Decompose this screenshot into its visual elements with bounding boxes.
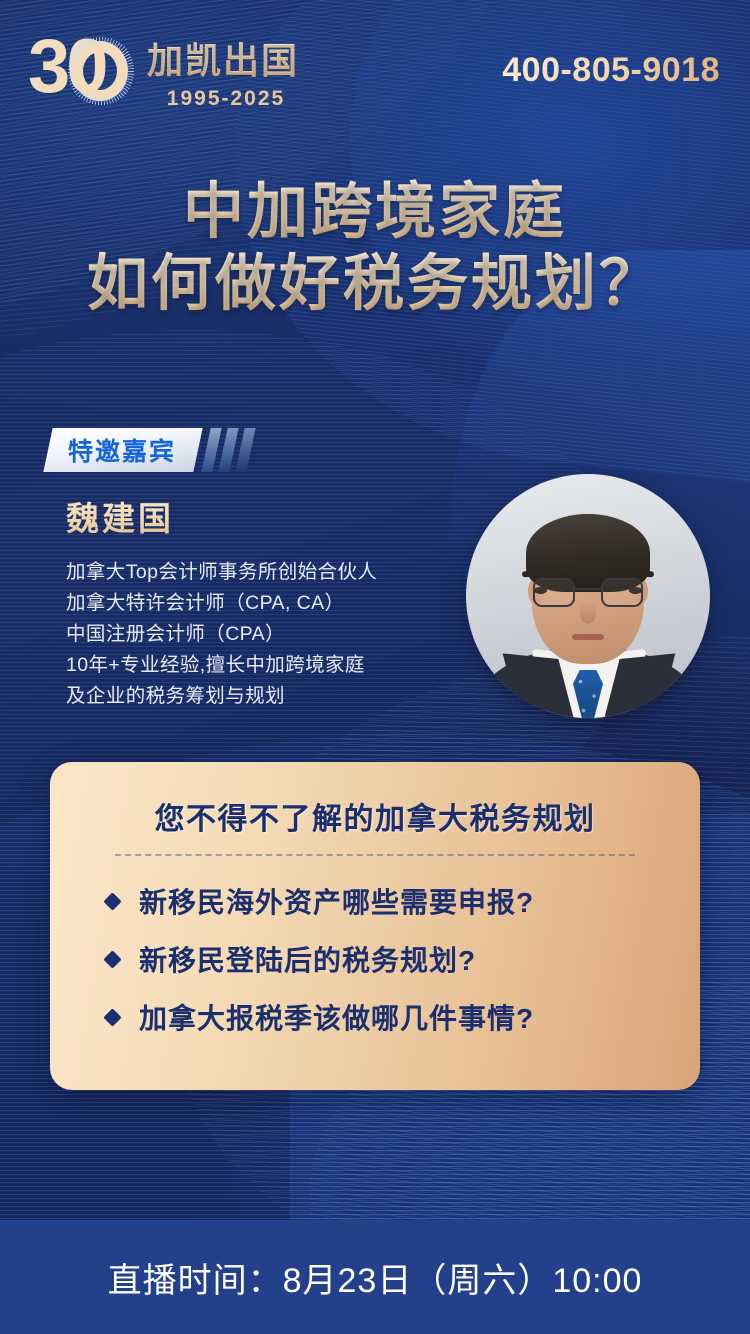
diamond-bullet-icon: [103, 892, 121, 910]
speaker-bio-line: 加拿大特许会计师（CPA, CA）: [66, 588, 466, 619]
brand-name: 加凯出国: [147, 32, 299, 84]
anniversary-dotted-arc-icon: [68, 35, 134, 107]
topic-text: 新移民登陆后的税务规划?: [139, 939, 476, 979]
guest-badge: 特邀嘉宾: [48, 428, 251, 472]
hotline-phone-number[interactable]: 400-805-9018: [502, 51, 720, 90]
footer-bar: 直播时间：8月23日（周六）10:00: [0, 1220, 750, 1334]
main-title: 中加跨境家庭 如何做好税务规划？: [0, 176, 750, 320]
list-item: 新移民登陆后的税务规划?: [88, 930, 662, 988]
speaker-bio-line: 中国注册会计师（CPA）: [66, 619, 466, 650]
brand-years: 1995-2025: [147, 87, 299, 111]
guest-badge-stripes-icon: [201, 428, 255, 472]
diamond-bullet-icon: [103, 1008, 121, 1026]
portrait-mouth: [572, 634, 604, 640]
list-item: 加拿大报税季该做哪几件事情?: [88, 988, 662, 1046]
guest-badge-plate: 特邀嘉宾: [43, 428, 202, 472]
brand-text-block: 加凯出国 1995-2025: [147, 30, 299, 111]
topics-card: 您不得不了解的加拿大税务规划 新移民海外资产哪些需要申报? 新移民登陆后的税务规…: [50, 762, 700, 1090]
brand-block: 30 加凯出国 1995-2025: [28, 27, 299, 113]
header-bar: 30 加凯出国 1995-2025 400-805-9018: [0, 0, 750, 140]
live-time-text: 直播时间：8月23日（周六）10:00: [108, 1253, 643, 1302]
guest-badge-label: 特邀嘉宾: [68, 432, 176, 468]
list-item: 新移民海外资产哪些需要申报?: [88, 872, 662, 930]
speaker-portrait-avatar: [466, 474, 710, 718]
speaker-name: 魏建国: [66, 492, 466, 540]
title-line-1: 中加跨境家庭: [0, 176, 750, 248]
topic-text: 新移民海外资产哪些需要申报?: [139, 881, 534, 921]
poster-canvas: 30 加凯出国 1995-2025 400-805-9018 中加跨境家庭 如何…: [0, 0, 750, 1334]
speaker-bio-line: 及企业的税务筹划与规划: [66, 681, 466, 712]
topics-list: 新移民海外资产哪些需要申报? 新移民登陆后的税务规划? 加拿大报税季该做哪几件事…: [88, 872, 662, 1046]
diamond-bullet-icon: [103, 950, 121, 968]
topics-card-heading: 您不得不了解的加拿大税务规划: [88, 794, 662, 838]
speaker-bio-line: 加拿大Top会计师事务所创始合伙人: [66, 557, 466, 588]
title-line-2: 如何做好税务规划？: [0, 248, 750, 320]
speaker-bio-line: 10年+专业经验,擅长中加跨境家庭: [66, 650, 466, 681]
anniversary-30-logo: 30: [28, 27, 133, 113]
portrait-nose: [580, 602, 596, 624]
topics-card-divider: [115, 854, 635, 856]
topic-text: 加拿大报税季该做哪几件事情?: [139, 997, 534, 1037]
speaker-info: 魏建国 加拿大Top会计师事务所创始合伙人 加拿大特许会计师（CPA, CA） …: [66, 492, 466, 712]
